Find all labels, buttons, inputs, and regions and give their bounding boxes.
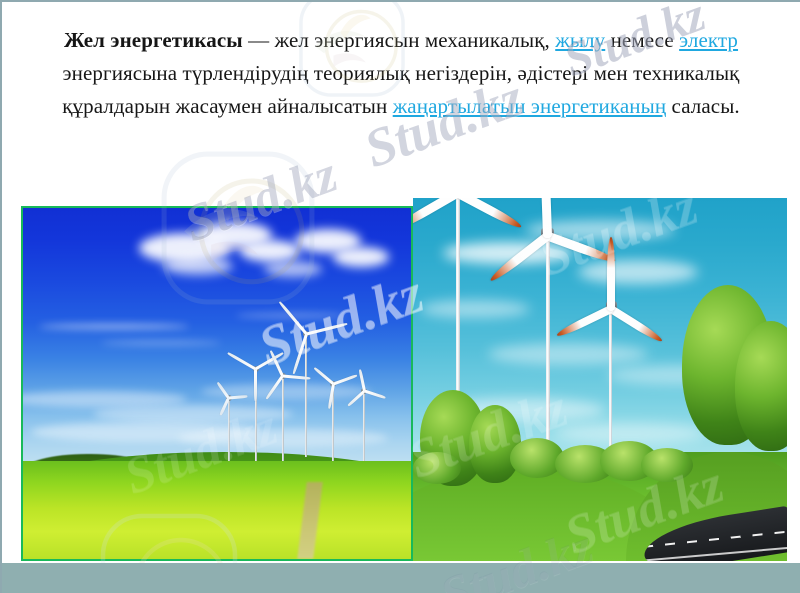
cloud: [264, 261, 322, 277]
bottom-band: [2, 563, 800, 593]
link-zhangartylatyn-energetikanyn[interactable]: жаңартылатын энергетиканың: [393, 94, 666, 118]
definition-part-1: жел энергиясын механикалық,: [275, 28, 556, 52]
tree: [469, 405, 521, 483]
shrub: [413, 452, 461, 484]
definition-part-2: немесе: [605, 28, 679, 52]
definition-part-4: саласы.: [666, 94, 740, 118]
cloud-band: [23, 391, 187, 407]
cloud: [578, 260, 698, 284]
wind-turbines-hills-image: [413, 198, 787, 561]
wind-farm-field-image: [21, 206, 413, 561]
link-elektr[interactable]: электр: [679, 28, 738, 52]
cloud: [163, 257, 233, 275]
cloud: [240, 240, 300, 262]
green-field: [23, 461, 411, 559]
link-zhylu[interactable]: жылу: [555, 28, 605, 52]
cloud: [555, 423, 705, 443]
cloud: [420, 300, 530, 318]
em-dash: —: [243, 28, 275, 52]
slide-page: Жел энергетикасы — жел энергиясын механи…: [0, 0, 800, 593]
cloud-band: [93, 405, 293, 423]
cloud: [333, 247, 389, 267]
term-title: Жел энергетикасы: [64, 28, 243, 52]
slide-text-block: Жел энергетикасы — жел энергиясын механи…: [22, 24, 780, 123]
cloud: [488, 343, 648, 365]
cloud-wisp: [39, 324, 189, 329]
